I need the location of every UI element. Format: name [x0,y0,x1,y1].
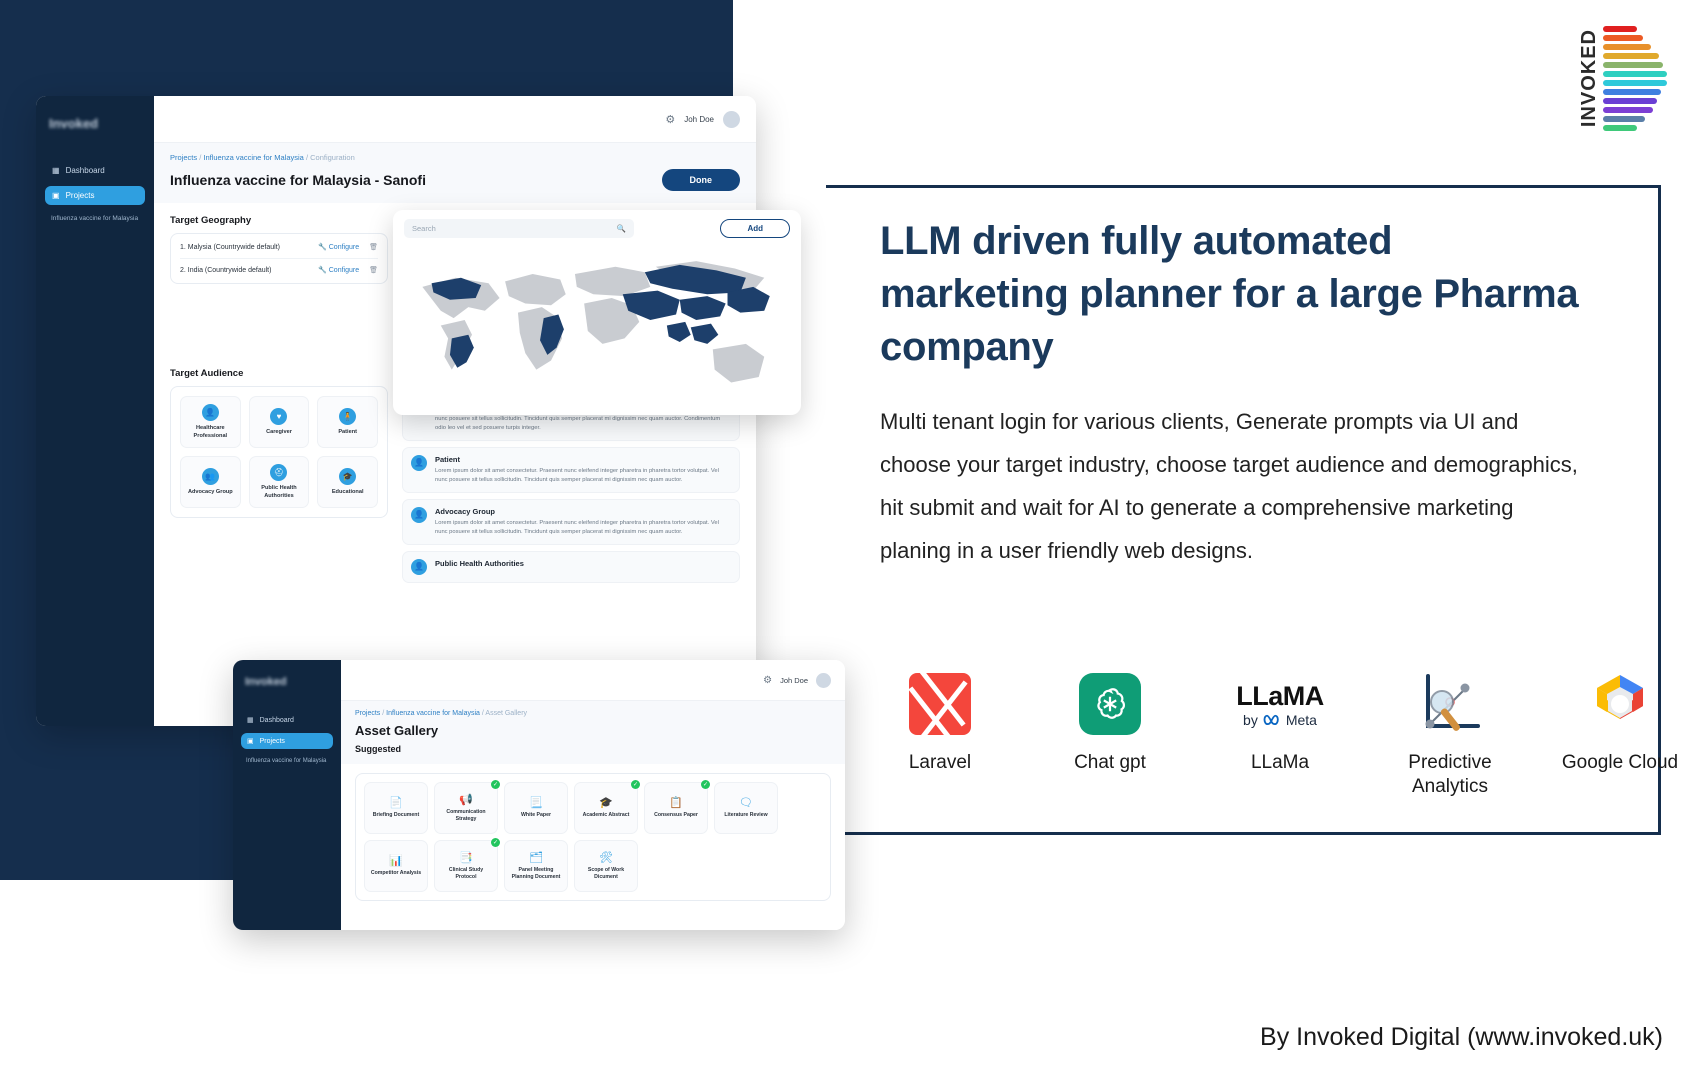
asset-card[interactable]: 🗨Literature Review [714,782,778,834]
search-input[interactable]: Search 🔍 [404,219,634,238]
check-icon: ✓ [701,780,710,789]
user-name: Joh Doe [684,115,714,124]
clipboard-icon: 📋 [669,796,683,809]
selected-item-title: Public Health Authorities [435,559,524,568]
selected-item[interactable]: 👤Public Health Authorities [402,551,740,583]
breadcrumb-separator: / [199,153,201,162]
audience-card[interactable]: 👥Advocacy Group [180,456,241,508]
target-audience-title: Target Audience [170,368,388,379]
breadcrumb: Projects / Influenza vaccine for Malaysi… [170,153,740,162]
invoked-logo-bars [1603,26,1667,131]
sidebar-item-dashboard[interactable]: ▦ Dashboard [241,712,333,728]
audience-card-label: Educational [332,489,364,497]
education-icon: 🎓 [339,468,356,485]
search-icon: 🔍 [617,224,626,233]
review-icon: 🗨 [739,796,753,809]
audience-card-label: Advocacy Group [188,489,233,497]
audience-card[interactable]: 🧍Patient [317,396,378,448]
asset-card-label: Communication Strategy [438,809,494,823]
logo-bar [1603,26,1637,32]
meta-label: Meta [1286,712,1317,728]
logo-bar [1603,44,1651,50]
country-picker-popover: Search 🔍 Add [393,210,801,415]
asset-card[interactable]: 📃White Paper [504,782,568,834]
openai-icon [1048,665,1172,743]
asset-card[interactable]: 📄Briefing Document [364,782,428,834]
sidebar-item-projects[interactable]: ▣ Projects [241,733,333,749]
logo-bar [1603,98,1657,104]
delete-icon[interactable]: 🗑 [369,266,378,274]
selected-list: 👤Healthcare ProfessionalLorem ipsum dolo… [402,386,740,583]
asset-gallery-card: 📄Briefing Document✓📢Communication Strate… [355,773,831,901]
breadcrumb: Projects / Influenza vaccine for Malaysi… [355,710,831,717]
logo-bar [1603,89,1661,95]
world-map[interactable] [404,245,790,400]
config-sidebar: Invoked ▦ Dashboard ▣ Projects Influenza… [36,96,154,726]
asset-card-label: Panel Meeting Planning Document [508,867,564,881]
logo-bar [1603,35,1643,41]
doctor-icon: 👤 [202,404,219,421]
gallery-header-bar: Projects / Influenza vaccine for Malaysi… [341,700,845,764]
asset-card-label: Clinical Study Protocol [438,867,494,881]
grid-icon: ▦ [52,166,60,175]
invoked-logo: INVOKED [1579,28,1667,128]
geography-label: 1. Malysia (Countrywide default) [180,244,280,251]
wrench-icon: 🔧 [318,244,327,251]
asset-gallery-window: Invoked ▦ Dashboard ▣ Projects Influenza… [233,660,845,930]
hero-content: LLM driven fully automated marketing pla… [880,215,1580,573]
predictive-analytics-icon [1388,665,1512,743]
logo-bar [1603,80,1667,86]
breadcrumb-project[interactable]: Influenza vaccine for Malaysia [203,153,303,162]
configure-label: Configure [329,244,359,251]
search-placeholder: Search [412,224,436,233]
sidebar-logo: Invoked [49,116,145,131]
tech-label: Predictive Analytics [1388,751,1512,799]
gallery-sidebar: Invoked ▦ Dashboard ▣ Projects Influenza… [233,660,341,930]
tech-label: Google Cloud [1558,751,1682,775]
asset-card-label: Scope of Work Dicument [578,867,634,881]
audience-card-label: Healthcare Professional [184,425,237,440]
sidebar-logo: Invoked [245,676,333,688]
invoked-logo-text: INVOKED [1579,29,1599,127]
target-geography-card: 1. Malysia (Countrywide default) 🔧 Confi… [170,233,388,284]
laravel-icon [878,665,1002,743]
asset-card[interactable]: ✓📋Consensus Paper [644,782,708,834]
logo-bar [1603,107,1653,113]
tech-item-laravel: Laravel [878,665,1002,775]
audience-card-label: Patient [338,429,357,437]
sidebar-item-label: Projects [66,191,95,200]
audience-card[interactable]: 👤Healthcare Professional [180,396,241,448]
geography-label: 2. India (Countrywide default) [180,267,271,274]
target-audience-card: 👤Healthcare Professional♥Caregiver🧍Patie… [170,386,388,518]
gallery-topbar: ⚙ Joh Doe [341,660,845,700]
page-body-copy: Multi tenant login for various clients, … [880,401,1580,573]
audience-card[interactable]: ♥Caregiver [249,396,310,448]
asset-card[interactable]: 📊Competitor Analysis [364,840,428,892]
scope-icon: 🛠 [599,851,613,864]
avatar[interactable] [816,673,831,688]
breadcrumb-current: Configuration [310,153,355,162]
page-title: Asset Gallery [355,723,831,738]
page-icon: 📃 [529,796,543,809]
logo-bar [1603,116,1645,122]
geography-row[interactable]: 1. Malysia (Countrywide default) 🔧 Confi… [180,236,378,259]
audience-icon: 👤 [411,507,427,523]
selected-item-text: Lorem ipsum dolor sit amet consectetur. … [435,467,731,485]
logo-bar [1603,71,1667,77]
avatar[interactable] [723,111,740,128]
asset-card[interactable]: 🗂Panel Meeting Planning Document [504,840,568,892]
asset-card-label: Consensus Paper [654,812,698,819]
technology-list: Laravel Chat gpt LLaMA by Meta LL [878,665,1682,799]
tech-label: Chat gpt [1048,751,1172,775]
logo-bar [1603,125,1637,131]
sidebar-item-label: Projects [260,738,285,745]
audience-card-label: Caregiver [266,429,292,437]
gallery-main: ⚙ Joh Doe Projects / Influenza vaccine f… [341,660,845,930]
tech-label: Laravel [878,751,1002,775]
target-audience-grid: 👤Healthcare Professional♥Caregiver🧍Patie… [180,396,378,508]
public-health-icon: ⛑ [270,464,287,481]
selected-item-text: Lorem ipsum dolor sit amet consectetur. … [435,519,731,537]
folder-icon: ▣ [52,191,60,200]
asset-card[interactable]: ✓📢Communication Strategy [434,782,498,834]
breadcrumb-separator: / [382,710,384,717]
breadcrumb-project[interactable]: Influenza vaccine for Malaysia [386,710,480,717]
section-label: Suggested [355,744,831,754]
asset-card[interactable]: ✓🎓Academic Abstract [574,782,638,834]
logo-bar [1603,62,1663,68]
asset-card[interactable]: ✓📑Clinical Study Protocol [434,840,498,892]
configure-label: Configure [329,267,359,274]
clinical-icon: 📑 [459,851,473,864]
check-icon: ✓ [631,780,640,789]
folder-icon: ▣ [247,737,254,745]
gear-icon[interactable]: ⚙ [763,675,772,686]
asset-card-label: Competitor Analysis [371,870,421,877]
asset-card-label: Literature Review [724,812,767,819]
gear-icon[interactable]: ⚙ [665,113,675,126]
llama-icon: LLaMA by Meta [1218,665,1342,743]
breadcrumb-projects[interactable]: Projects [355,710,380,717]
audience-icon: 👤 [411,455,427,471]
target-geography-title: Target Geography [170,215,388,226]
logo-bar [1603,53,1659,59]
config-header-bar: Projects / Influenza vaccine for Malaysi… [154,142,756,203]
tech-item-google-cloud: Google Cloud [1558,665,1682,775]
selected-item-title: Patient [435,455,731,464]
done-button[interactable]: Done [662,169,741,191]
asset-card-label: Academic Abstract [583,812,630,819]
asset-card-label: White Paper [521,812,551,819]
advocacy-icon: 👥 [202,468,219,485]
breadcrumb-projects[interactable]: Projects [170,153,197,162]
megaphone-icon: 📢 [459,793,473,806]
google-cloud-icon [1558,665,1682,743]
llama-wordmark: LLaMA [1236,681,1324,712]
delete-icon[interactable]: 🗑 [369,243,378,251]
sidebar-sub-item[interactable]: Influenza vaccine for Malaysia [246,758,333,764]
page-headline: LLM driven fully automated marketing pla… [880,215,1580,373]
sidebar-sub-item[interactable]: Influenza vaccine for Malaysia [51,215,145,222]
sidebar-item-projects[interactable]: ▣ Projects [45,186,145,205]
asset-card-label: Briefing Document [373,812,419,819]
analysis-icon: 📊 [389,854,403,867]
breadcrumb-current: Asset Gallery [485,710,527,717]
asset-card[interactable]: 🛠Scope of Work Dicument [574,840,638,892]
audience-card-label: Public Health Authorities [253,485,306,500]
grid-icon: ▦ [247,716,254,724]
configure-link[interactable]: 🔧 Configure [318,266,359,274]
configure-link[interactable]: 🔧 Configure [318,243,359,251]
tech-item-predictive-analytics: Predictive Analytics [1388,665,1512,799]
wrench-icon: 🔧 [318,267,327,274]
caregiver-icon: ♥ [270,408,287,425]
sidebar-item-label: Dashboard [66,166,105,175]
check-icon: ✓ [491,780,500,789]
llama-by-label: by [1243,712,1258,728]
selected-item-title: Advocacy Group [435,507,731,516]
geography-row[interactable]: 2. India (Countrywide default) 🔧 Configu… [180,259,378,281]
graduation-icon: 🎓 [599,796,613,809]
audience-card[interactable]: ⛑Public Health Authorities [249,456,310,508]
user-name: Joh Doe [780,676,808,685]
breadcrumb-separator: / [306,153,308,162]
selected-item[interactable]: 👤Advocacy GroupLorem ipsum dolor sit ame… [402,499,740,545]
footer-credit: By Invoked Digital (www.invoked.uk) [1260,1023,1663,1052]
breadcrumb-separator: / [482,710,484,717]
panel-icon: 🗂 [529,851,543,864]
tech-item-chatgpt: Chat gpt [1048,665,1172,775]
asset-grid: 📄Briefing Document✓📢Communication Strate… [364,782,822,892]
add-button[interactable]: Add [720,219,790,238]
sidebar-item-label: Dashboard [260,717,294,724]
tech-item-llama: LLaMA by Meta LLaMa [1218,665,1342,775]
audience-icon: 👤 [411,559,427,575]
patient-icon: 🧍 [339,408,356,425]
document-icon: 📄 [389,796,403,809]
tech-label: LLaMa [1218,751,1342,775]
sidebar-item-dashboard[interactable]: ▦ Dashboard [45,161,145,180]
config-topbar: ⚙ Joh Doe [154,96,756,142]
audience-card[interactable]: 🎓Educational [317,456,378,508]
page-title: Influenza vaccine for Malaysia - Sanofi [170,172,426,188]
check-icon: ✓ [491,838,500,847]
selected-item[interactable]: 👤PatientLorem ipsum dolor sit amet conse… [402,447,740,493]
